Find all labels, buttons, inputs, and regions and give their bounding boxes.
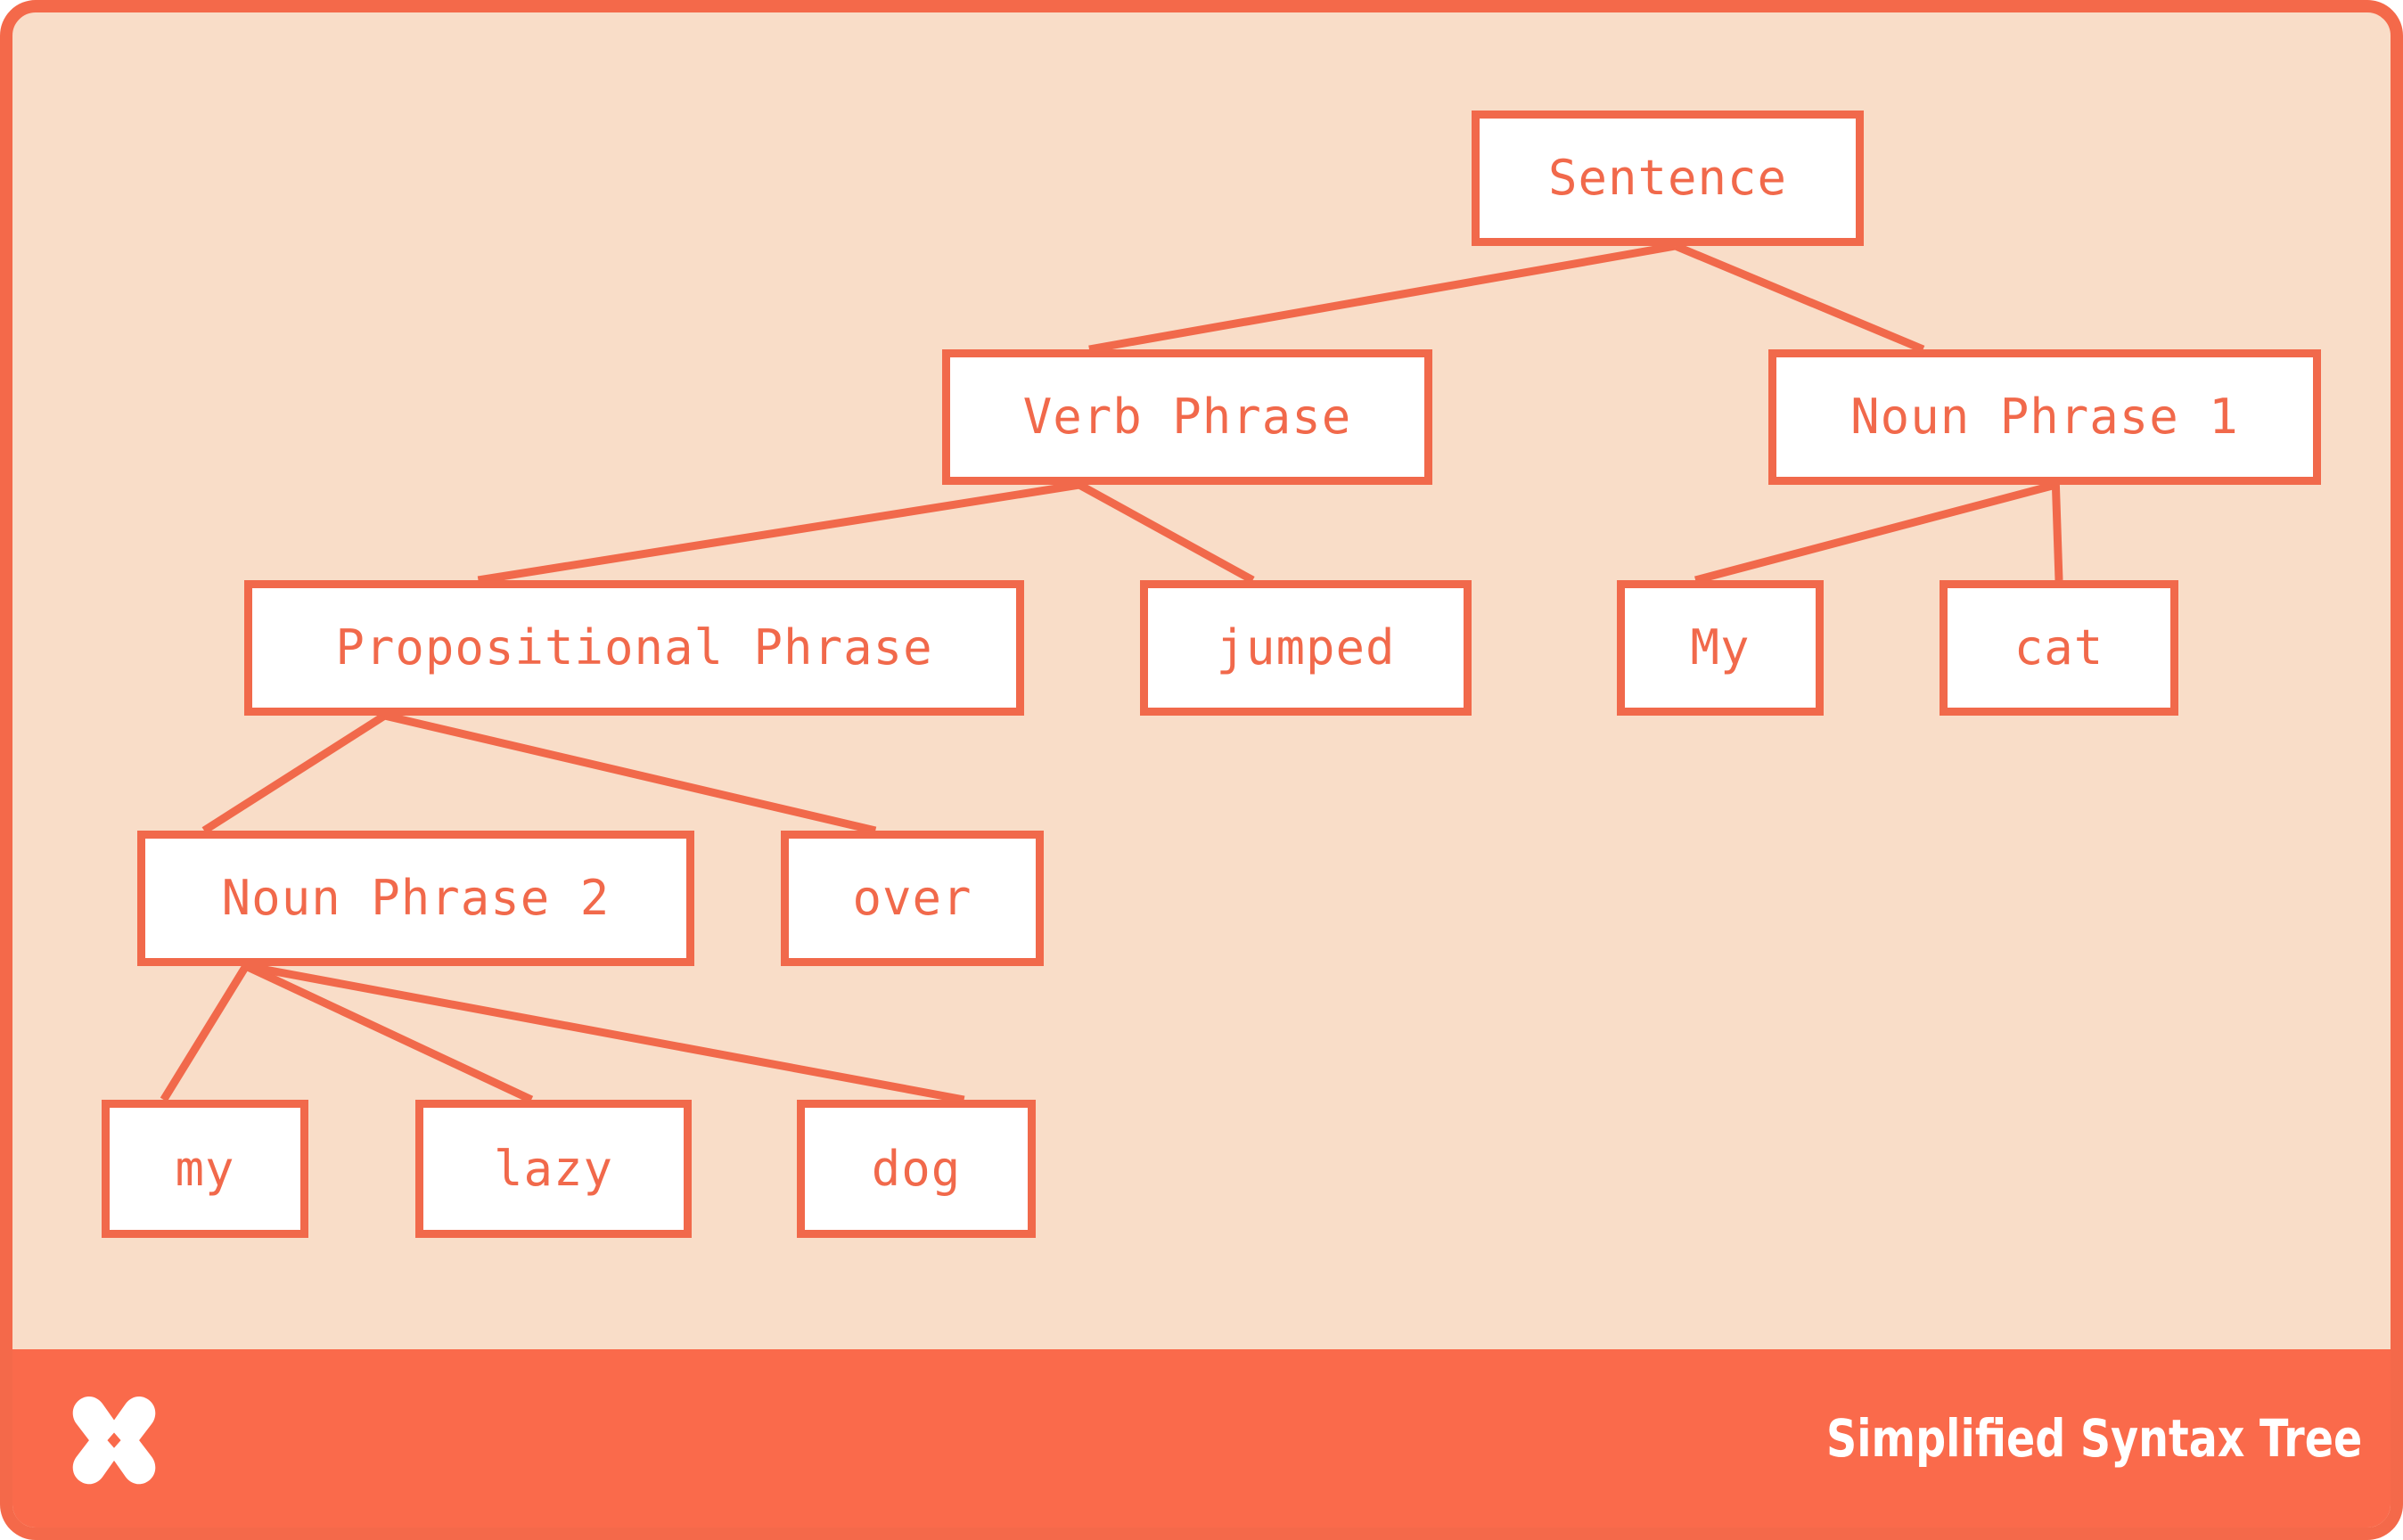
tree-node-label: Noun Phrase 2: [222, 874, 611, 922]
tree-node-jumped[interactable]: jumped: [1140, 580, 1472, 716]
tree-node-lazy[interactable]: lazy: [415, 1100, 692, 1238]
tree-node-label: dog: [872, 1145, 962, 1193]
tree-node-label: cat: [2014, 624, 2104, 672]
tree-node-over[interactable]: over: [781, 831, 1044, 966]
tree-node-label: Verb Phrase: [1023, 393, 1352, 441]
tree-node-label: over: [852, 874, 972, 922]
tree-node-label: Noun Phrase 1: [1850, 393, 2239, 441]
tree-node-label: jumped: [1216, 624, 1395, 672]
footer-bar: Simplified Syntax Tree: [12, 1349, 2403, 1528]
tree-node-my-leaf[interactable]: my: [102, 1100, 308, 1238]
tree-node-dog[interactable]: dog: [797, 1100, 1036, 1238]
tree-node-propositional-phrase[interactable]: Propositional Phrase: [244, 580, 1024, 716]
tree-node-label: My: [1690, 624, 1750, 672]
tree-node-label: Propositional Phrase: [335, 624, 932, 672]
tree-node-label: Sentence: [1548, 154, 1787, 202]
tree-node-noun-phrase-2[interactable]: Noun Phrase 2: [137, 831, 694, 966]
tree-node-my-det[interactable]: My: [1617, 580, 1824, 716]
tree-node-noun-phrase-1[interactable]: Noun Phrase 1: [1768, 349, 2321, 485]
tree-node-label: lazy: [494, 1145, 613, 1193]
footer-title: Simplified Syntax Tree: [1826, 1408, 2362, 1469]
tree-nodes-layer: SentenceVerb PhraseNoun Phrase 1Proposit…: [12, 12, 2403, 1540]
tree-node-sentence[interactable]: Sentence: [1472, 111, 1864, 246]
diagram-card: SentenceVerb PhraseNoun Phrase 1Proposit…: [0, 0, 2403, 1540]
butterfly-x-logo-icon: [66, 1390, 162, 1487]
tree-node-verb-phrase[interactable]: Verb Phrase: [942, 349, 1432, 485]
tree-node-cat[interactable]: cat: [1940, 580, 2178, 716]
tree-node-label: my: [175, 1145, 234, 1193]
